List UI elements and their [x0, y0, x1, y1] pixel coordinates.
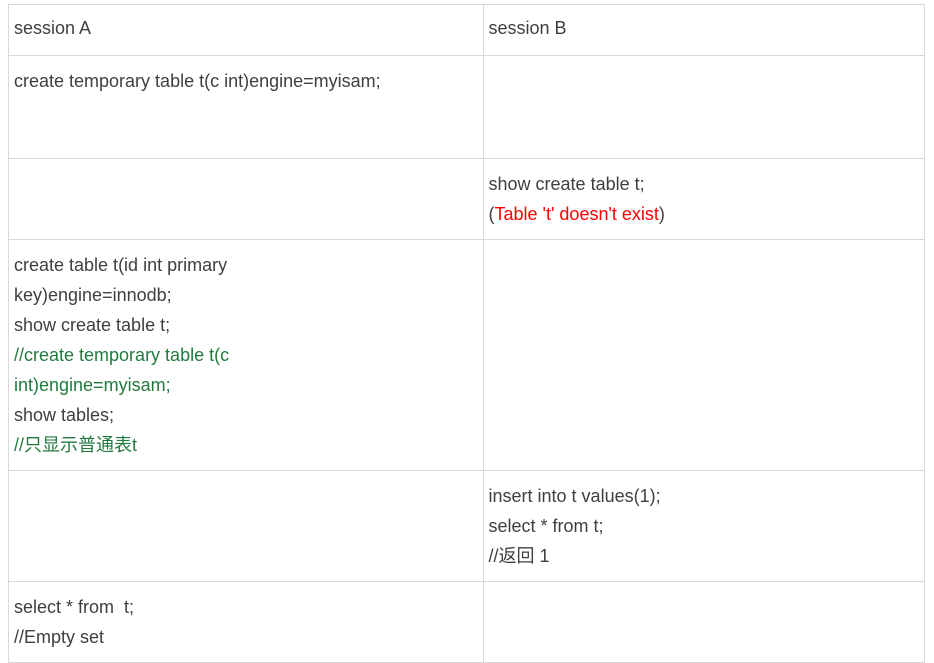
- cell-text-line: //只显示普通表t: [14, 430, 478, 460]
- column-header-session-a: session A: [9, 5, 484, 56]
- cell-session-b: [483, 56, 924, 159]
- cell-text-line: int)engine=myisam;: [14, 370, 478, 400]
- cell-session-b: insert into t values(1);select * from t;…: [483, 471, 924, 582]
- cell-text-line: //返回 1: [489, 541, 919, 571]
- cell-text-line: key)engine=innodb;: [14, 280, 478, 310]
- session-comparison-table: session A session B create temporary tab…: [8, 4, 925, 663]
- cell-text-segment: ): [659, 204, 665, 224]
- cell-text-line: //create temporary table t(c: [14, 340, 478, 370]
- cell-text-line: select * from t;: [14, 592, 478, 622]
- table-row: insert into t values(1);select * from t;…: [9, 471, 925, 582]
- cell-text-line: //Empty set: [14, 622, 478, 652]
- table-header: session A session B: [9, 5, 925, 56]
- cell-session-b: [483, 582, 924, 663]
- column-header-session-b: session B: [483, 5, 924, 56]
- table-row: show create table t;(Table 't' doesn't e…: [9, 159, 925, 240]
- table-header-row: session A session B: [9, 5, 925, 56]
- cell-text-segment: Table 't' doesn't exist: [495, 204, 659, 224]
- cell-session-b: show create table t;(Table 't' doesn't e…: [483, 159, 924, 240]
- table-row: create table t(id int primarykey)engine=…: [9, 240, 925, 471]
- cell-session-b: [483, 240, 924, 471]
- cell-text-line: create table t(id int primary: [14, 250, 478, 280]
- cell-text-line: (Table 't' doesn't exist): [489, 199, 919, 229]
- cell-session-a: create table t(id int primarykey)engine=…: [9, 240, 484, 471]
- cell-text-line: select * from t;: [489, 511, 919, 541]
- cell-session-a: [9, 159, 484, 240]
- cell-text-line: show tables;: [14, 400, 478, 430]
- table-row: create temporary table t(c int)engine=my…: [9, 56, 925, 159]
- cell-text-line: show create table t;: [14, 310, 478, 340]
- page-root: session A session B create temporary tab…: [0, 0, 934, 631]
- table-body: create temporary table t(c int)engine=my…: [9, 56, 925, 663]
- cell-session-a: [9, 471, 484, 582]
- cell-session-a: select * from t;//Empty set: [9, 582, 484, 663]
- cell-text-line: show create table t;: [489, 169, 919, 199]
- cell-text-line: insert into t values(1);: [489, 481, 919, 511]
- table-row: select * from t;//Empty set: [9, 582, 925, 663]
- cell-session-a: create temporary table t(c int)engine=my…: [9, 56, 484, 159]
- cell-text-line: create temporary table t(c int)engine=my…: [14, 66, 478, 96]
